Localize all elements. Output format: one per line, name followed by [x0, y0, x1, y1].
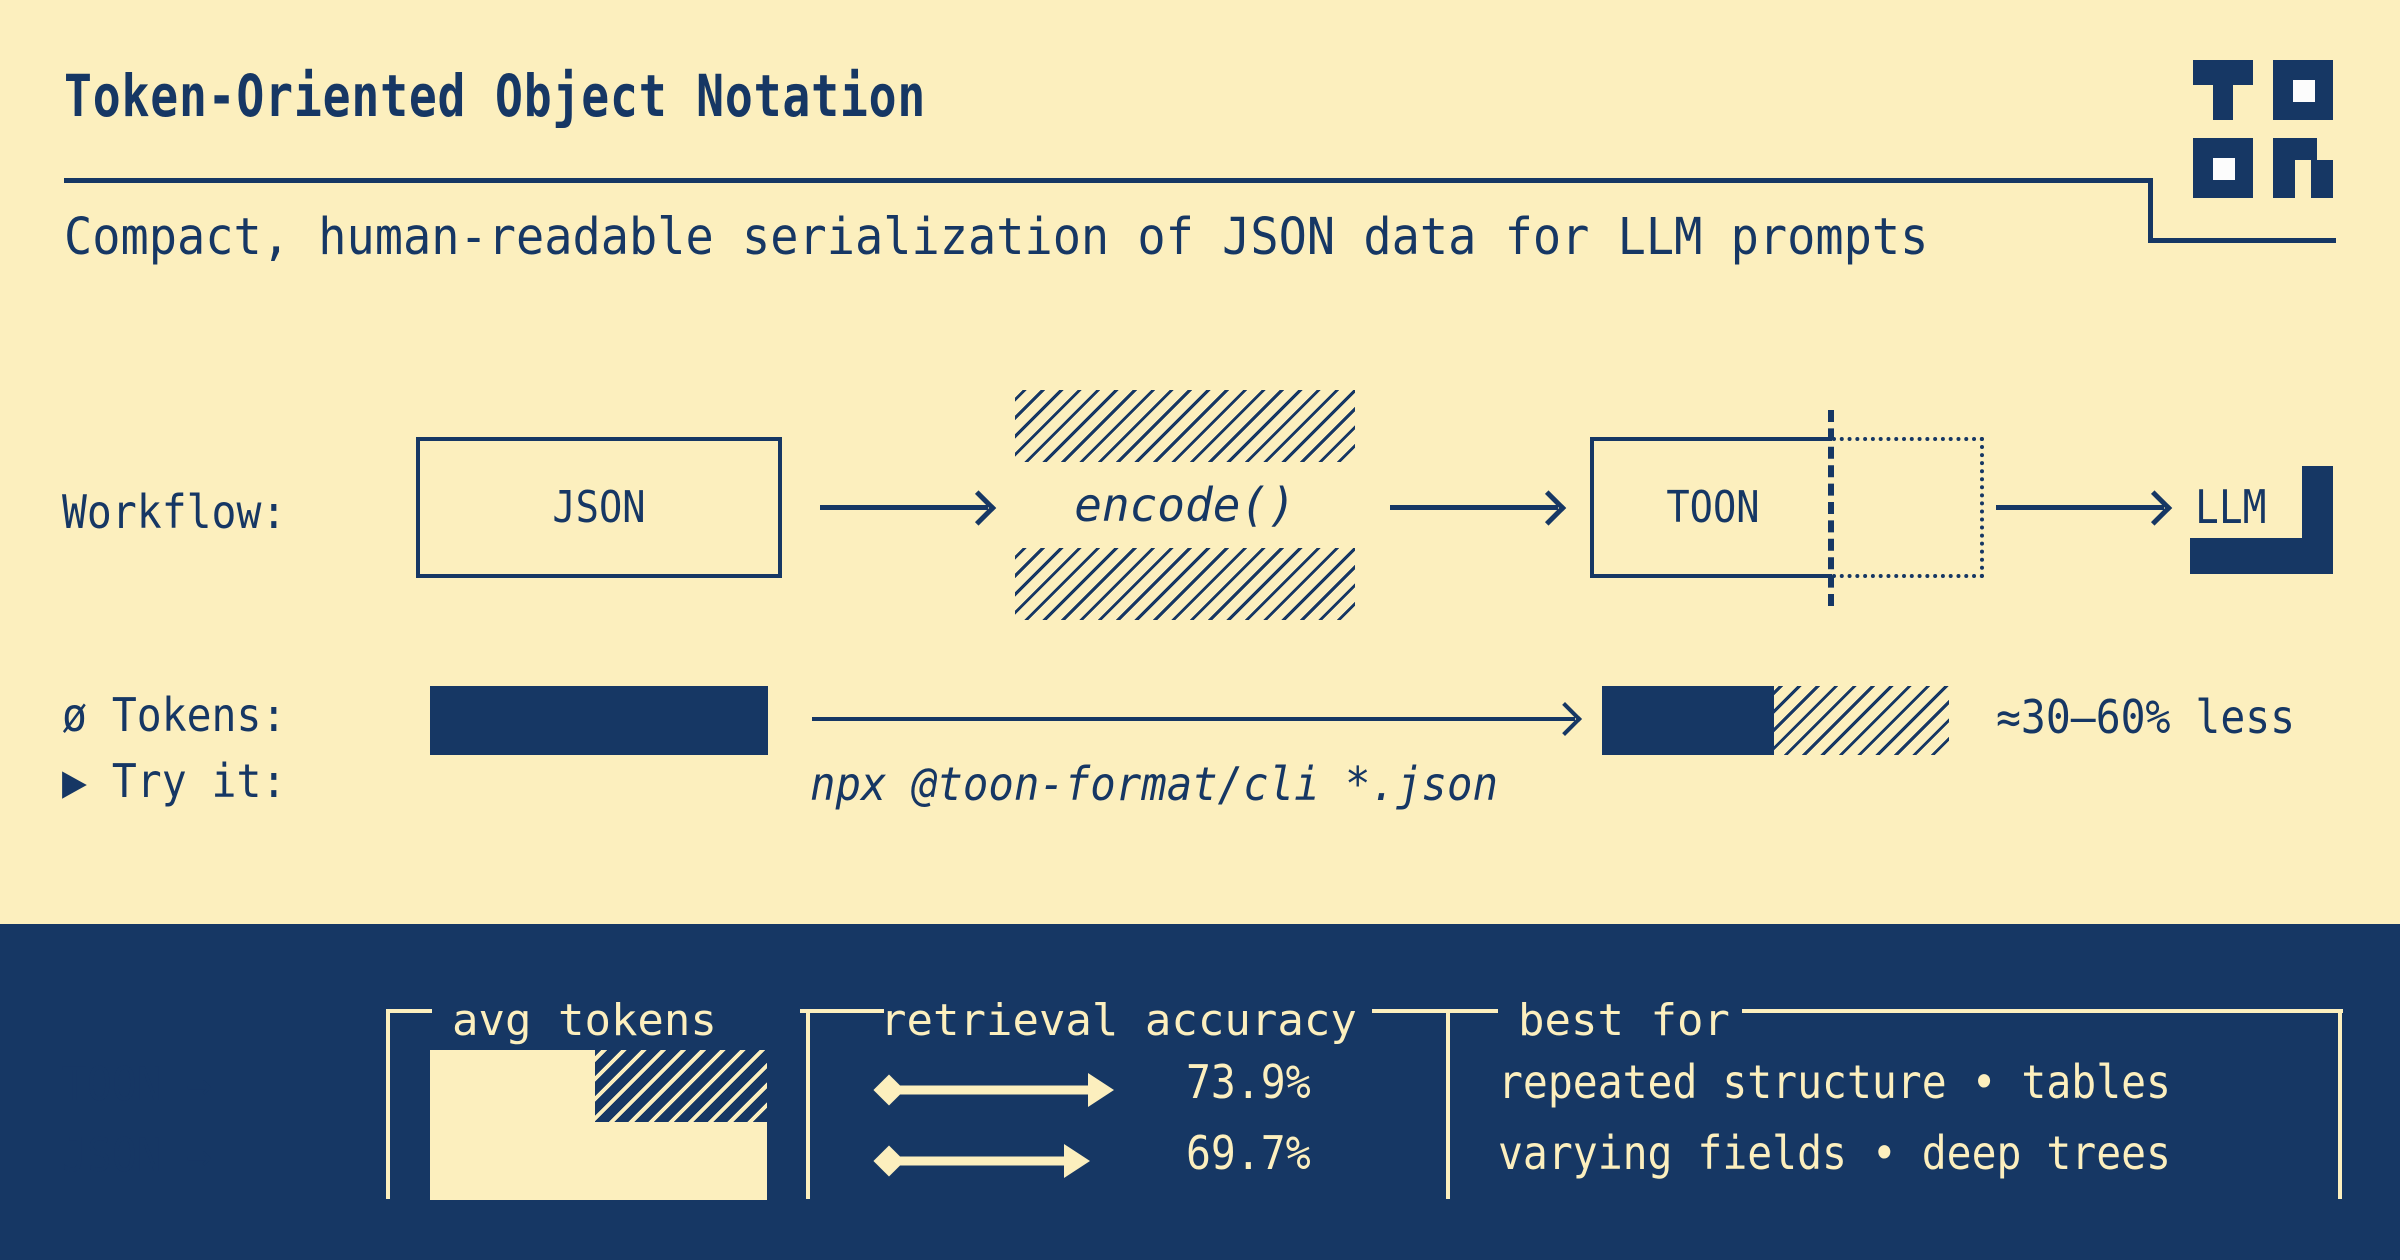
try-it-label: ▶ Try it: [62, 754, 286, 808]
avg-tokens-bar-toon-hatch [595, 1050, 767, 1122]
retrieval-accuracy-value-toon: 73.9% [1186, 1055, 1311, 1109]
header-rule-tail [2148, 238, 2336, 243]
avg-tokens-bar-toon-solid [430, 1050, 595, 1122]
retrieval-accuracy-panel-label: retrieval accuracy [880, 995, 1357, 1046]
logo-letter-o1-hole-icon [2293, 80, 2315, 102]
workflow-arrow-3-icon [1996, 505, 2164, 510]
panel-divider-1-stem [806, 1009, 810, 1199]
arrow-head-icon [1064, 1144, 1090, 1178]
best-for-frame-left [1446, 1009, 1450, 1199]
llm-bracket-right-icon [2302, 466, 2333, 574]
logo-letter-t-stem-icon [2213, 82, 2233, 120]
avg-tokens-frame-left [386, 1009, 390, 1199]
avg-tokens-frame-top-left [386, 1009, 432, 1013]
logo-letter-o2-hole-icon [2213, 158, 2235, 180]
avg-tokens-bar-json [430, 1122, 767, 1200]
workflow-arrow-1-icon [820, 505, 988, 510]
avg-tokens-panel-label: avg tokens [452, 995, 717, 1046]
workflow-node-toon: TOON [1590, 437, 1832, 578]
workflow-node-toon-ghost [1832, 437, 1984, 578]
tokens-savings-label: ≈30–60% less [1996, 690, 2295, 744]
infographic-canvas: Token-Oriented Object Notation Compact, … [0, 0, 2400, 1260]
retrieval-accuracy-value-json: 69.7% [1186, 1126, 1311, 1180]
best-for-frame-right [2338, 1009, 2342, 1199]
workflow-arrow-2-icon [1390, 505, 1558, 510]
workflow-node-encode: encode() [1015, 390, 1355, 620]
best-for-frame-top-right [1742, 1009, 2343, 1013]
arrow-shaft [896, 1157, 1068, 1166]
best-for-panel-label: best for [1518, 995, 1730, 1046]
page-title: Token-Oriented Object Notation [64, 62, 926, 130]
encode-hatch-bottom [1015, 548, 1355, 620]
logo-letter-n-right-icon [2311, 160, 2333, 198]
toon-logo [2193, 60, 2343, 210]
workflow-node-llm-label: LLM [2195, 480, 2266, 534]
header-rule-drop [2148, 178, 2153, 243]
page-subtitle: Compact, human-readable serialization of… [64, 208, 1928, 267]
tokens-bar-toon-hatch [1774, 686, 1949, 755]
footer-row-label-toon: TOON → [62, 1057, 212, 1111]
tokens-comparison-arrow-icon [812, 717, 1575, 721]
retrieval-accuracy-frame-top-right [1372, 1009, 1450, 1013]
workflow-node-toon-label: TOON [1666, 482, 1759, 533]
tokens-bar-json [430, 686, 768, 755]
arrow-head-icon [1088, 1073, 1114, 1107]
tokens-bar-toon-solid [1602, 686, 1774, 755]
workflow-toon-divider-icon [1828, 410, 1834, 606]
tokens-row-label: ø Tokens: [62, 688, 286, 742]
best-for-line-1: repeated structure • tables [1498, 1055, 2171, 1109]
header-rule [64, 178, 2153, 183]
logo-letter-n-top-icon [2273, 138, 2317, 160]
try-it-command[interactable]: npx @toon-format/cli *.json [810, 757, 1498, 811]
workflow-label: Workflow: [62, 485, 286, 539]
workflow-node-json: JSON [416, 437, 782, 578]
panel-divider-1-top [806, 1009, 884, 1013]
footer-row-label-json: JSON → [62, 1128, 212, 1182]
best-for-line-2: varying fields • deep trees [1498, 1126, 2171, 1180]
workflow-node-encode-label: encode() [1015, 462, 1355, 548]
workflow-node-json-label: JSON [552, 482, 645, 533]
encode-hatch-top [1015, 390, 1355, 462]
arrow-shaft [896, 1086, 1092, 1095]
